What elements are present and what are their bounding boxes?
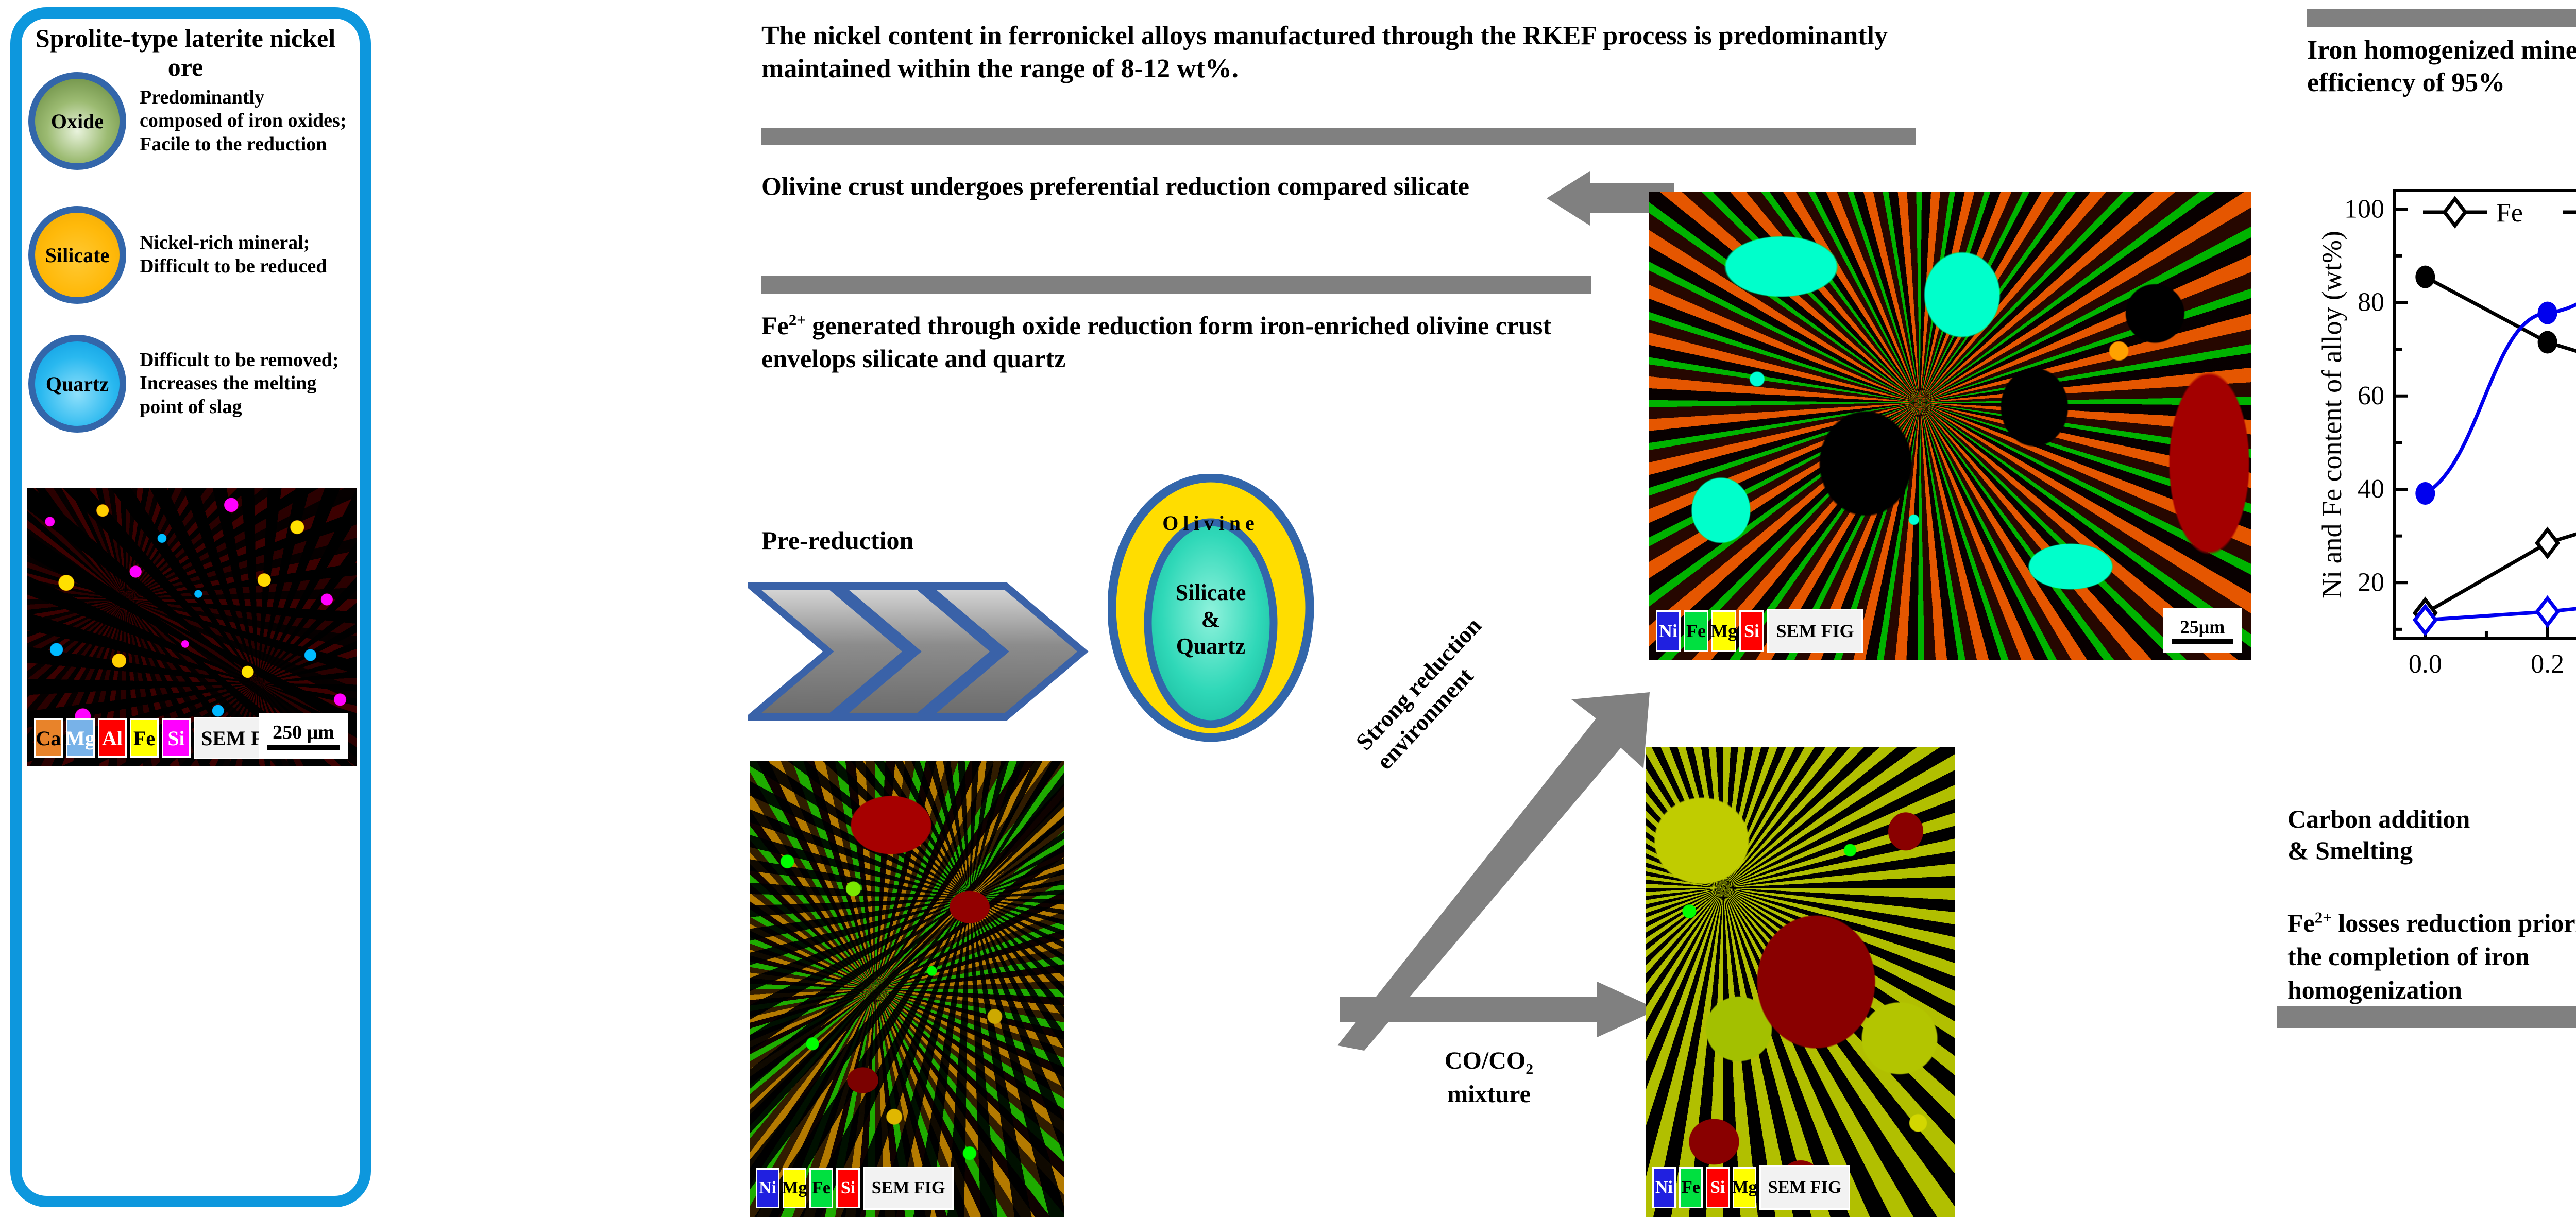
element-chip-fe: Fe [130, 718, 159, 758]
headline-statement: The nickel content in ferronickel alloys… [761, 20, 1941, 86]
arrow-carbon-feed [2277, 994, 2576, 1040]
element-chip-si: Si [1739, 610, 1764, 652]
scale-bar-25um: 25μm [2163, 608, 2242, 653]
mineral-row-oxide: Oxide Predominantly composed of iron oxi… [28, 72, 348, 170]
sem-fig-label: SEM FIG [863, 1167, 954, 1210]
fe2-loss-charge: 2+ [2315, 908, 2332, 926]
mineral-row-quartz: Quartz Difficult to be removed; Increase… [28, 335, 348, 433]
scale-bar-line [2172, 639, 2233, 644]
sem-legend-prereduced: NiMgFeSiSEM FIG [756, 1167, 954, 1210]
carbon-addition-line1: Carbon addition [2287, 803, 2576, 835]
fe2-statement: Fe2+ generated through oxide reduction f… [761, 309, 1606, 375]
inner-label-amp: & [1139, 606, 1283, 633]
divider-bar-2 [761, 276, 1591, 294]
y-tick-label: 60 [2358, 381, 2384, 410]
element-chip-mg: Mg [1711, 610, 1736, 652]
sem-micrograph-coco2: NiFeSiMgSEM FIG [1646, 747, 1955, 1217]
fe2-charge: 2+ [789, 311, 806, 329]
element-chip-fe: Fe [1684, 610, 1708, 652]
element-chip-mg: Mg [783, 1168, 806, 1208]
scale-bar-250um: 250 μm [259, 713, 348, 759]
co-co2-line2: mixture [1381, 1079, 1597, 1110]
oxide-description: Predominantly composed of iron oxides; F… [140, 86, 348, 157]
divider-bar-1 [761, 128, 1916, 145]
x-tick-label: 0.2 [2531, 649, 2564, 679]
element-chip-ca: Ca [34, 718, 63, 758]
fe2-loss-symbol: Fe [2287, 909, 2315, 937]
fe2-loss-statement: Fe2+ losses reduction priority upon the … [2287, 906, 2576, 1007]
sem-image-texture [1646, 747, 1955, 1217]
sem-legend-ore: CaMgAlFeSiSEM FIG [34, 717, 295, 759]
pre-reduction-chevron-arrows [748, 582, 1109, 721]
mineral-row-silicate: Silicate Nickel-rich mineral; Difficult … [28, 206, 348, 304]
sem-micrograph-prereduced: NiMgFeSiSEM FIG [750, 761, 1064, 1217]
silicate-label: Silicate [45, 243, 109, 267]
element-chip-ni: Ni [1656, 610, 1681, 652]
oxide-label: Oxide [51, 109, 104, 133]
silicate-description: Nickel-rich mineral; Difficult to be red… [140, 231, 348, 278]
sem-image-texture [1649, 192, 2251, 660]
sem-fig-label: SEM FIG [1767, 609, 1863, 653]
y-axis-title: Ni and Fe content of alloy (wt%) [2317, 231, 2347, 598]
chevron-icon [748, 582, 1109, 721]
quartz-label: Quartz [46, 372, 109, 396]
quartz-description: Difficult to be removed; Increases the m… [140, 349, 348, 419]
legend-label: Fe [2496, 198, 2523, 228]
olivine-core-shell-diagram: Olivine Silicate & Quartz [1108, 474, 1314, 742]
scale-bar-line [267, 745, 340, 750]
fe2-statement-text: generated through oxide reduction form i… [761, 311, 1551, 373]
carbon-addition-label: Carbon addition & Smelting [2287, 803, 2576, 866]
element-chip-ni: Ni [1652, 1167, 1676, 1208]
fe2-symbol: Fe [761, 311, 789, 340]
sem-micrograph-ore: CaMgAlFeSiSEM FIG 250 μm [27, 488, 357, 766]
inner-label-quartz: Quartz [1139, 633, 1283, 660]
divider-bar-3 [2307, 9, 2576, 27]
chart-svg: 204060801000204060801000.00.20.40.60.81.… [2317, 155, 2576, 736]
sem-legend-coco2: NiFeSiMgSEM FIG [1652, 1165, 1850, 1210]
y-tick-label: 80 [2358, 288, 2384, 317]
pre-reduction-label: Pre-reduction [761, 525, 1122, 555]
arrow-co-co2 [1340, 979, 1659, 1040]
sem-micrograph-strong-reduction: NiFeMgSiSEM FIG 25μm [1649, 192, 2251, 660]
scale-bar-label: 250 μm [273, 723, 334, 742]
olivine-statement: Olivine crust undergoes preferential red… [761, 170, 1663, 202]
scale-bar-label: 25μm [2180, 618, 2225, 636]
inner-label-silicate: Silicate [1139, 579, 1283, 606]
y-tick-label: 100 [2344, 194, 2384, 224]
y-tick-label: 20 [2358, 568, 2384, 597]
olivine-inner-label: Silicate & Quartz [1139, 579, 1283, 660]
right-title: Iron homogenized mineral can yield FeNi5… [2307, 34, 2576, 99]
carbon-addition-line2: & Smelting [2287, 835, 2576, 866]
y-tick-label: 40 [2358, 474, 2384, 504]
olivine-outer-label: Olivine [1108, 511, 1314, 535]
element-chip-al: Al [98, 718, 127, 758]
silicate-circle: Silicate [28, 206, 126, 304]
sem-image-texture [750, 761, 1064, 1217]
element-chip-fe: Fe [809, 1168, 833, 1208]
element-chip-mg: Mg [1733, 1167, 1756, 1208]
element-chip-fe: Fe [1679, 1167, 1703, 1208]
sem-fig-label: SEM FIG [1759, 1165, 1850, 1210]
oxide-circle: Oxide [28, 72, 126, 170]
element-chip-si: Si [162, 718, 191, 758]
arrow-right-icon [1340, 979, 1659, 1040]
element-chip-si: Si [836, 1168, 860, 1208]
quartz-circle: Quartz [28, 335, 126, 433]
co-co2-label: CO/CO2 mixture [1381, 1045, 1597, 1110]
sem-legend-strong-reduction: NiFeMgSiSEM FIG [1656, 609, 1863, 653]
x-tick-label: 0.0 [2409, 649, 2442, 679]
element-chip-si: Si [1706, 1167, 1730, 1208]
recovery-chart: 204060801000204060801000.00.20.40.60.81.… [2317, 155, 2576, 736]
arrow-right-icon [2277, 994, 2576, 1040]
element-chip-mg: Mg [66, 718, 95, 758]
element-chip-ni: Ni [756, 1168, 779, 1208]
co-co2-line1: CO/CO2 [1381, 1045, 1597, 1079]
